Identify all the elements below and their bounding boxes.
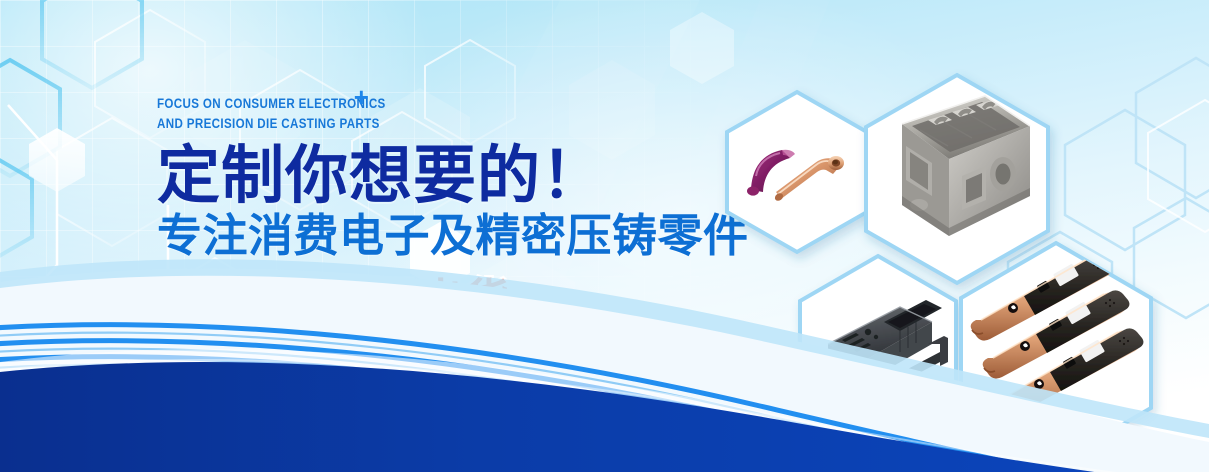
bottom-wave-decoration: [0, 242, 1209, 472]
product-hex-handle: [727, 92, 867, 252]
promotional-banner: FOCUS ON CONSUMER ELECTRONICS AND PRECIS…: [0, 0, 1209, 472]
